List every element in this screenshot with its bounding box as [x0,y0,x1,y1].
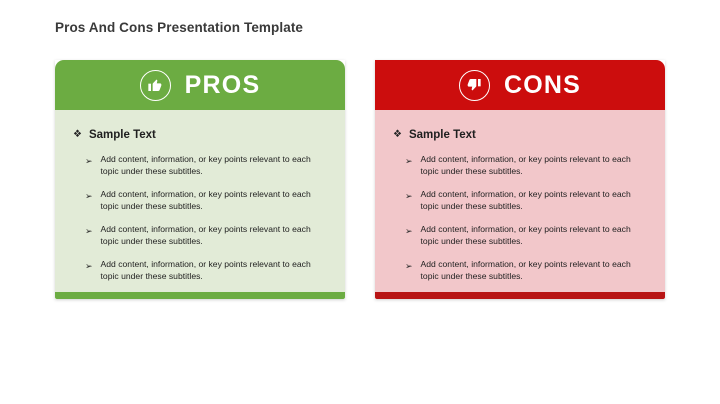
arrow-bullet-icon: ➢ [85,259,93,273]
cons-card-header: CONS [375,60,665,110]
list-item-text: Add content, information, or key points … [421,154,636,177]
cons-sample-label: Sample Text [409,128,476,142]
list-item: ➢ Add content, information, or key point… [85,259,329,282]
list-item: ➢ Add content, information, or key point… [405,189,649,212]
list-item-text: Add content, information, or key points … [101,224,316,247]
list-item-text: Add content, information, or key points … [101,189,316,212]
pros-card-header: PROS [55,60,345,110]
list-item-text: Add content, information, or key points … [421,189,636,212]
list-item: ➢ Add content, information, or key point… [85,224,329,247]
pros-bullet-list: ➢ Add content, information, or key point… [71,154,329,282]
list-item-text: Add content, information, or key points … [101,259,316,282]
diamond-bullet-icon: ❖ [73,128,82,142]
list-item: ➢ Add content, information, or key point… [405,259,649,282]
slide-canvas: Pros And Cons Presentation Template PROS… [0,0,720,404]
page-title: Pros And Cons Presentation Template [55,20,303,35]
arrow-bullet-icon: ➢ [85,154,93,168]
list-item: ➢ Add content, information, or key point… [85,189,329,212]
arrow-bullet-icon: ➢ [405,154,413,168]
cons-card-footer-bar [375,292,665,299]
list-item-text: Add content, information, or key points … [101,154,316,177]
thumbs-down-icon [459,70,490,101]
cons-sample-heading: ❖ Sample Text [393,128,649,142]
arrow-bullet-icon: ➢ [405,259,413,273]
pros-sample-label: Sample Text [89,128,156,142]
list-item-text: Add content, information, or key points … [421,224,636,247]
arrow-bullet-icon: ➢ [85,224,93,238]
pros-card-footer-bar [55,292,345,299]
arrow-bullet-icon: ➢ [405,189,413,203]
cons-card-body: ❖ Sample Text ➢ Add content, information… [375,110,665,292]
pros-card-body: ❖ Sample Text ➢ Add content, information… [55,110,345,292]
pros-cons-columns: PROS ❖ Sample Text ➢ Add content, inform… [55,60,665,299]
list-item: ➢ Add content, information, or key point… [405,224,649,247]
list-item-text: Add content, information, or key points … [421,259,636,282]
cons-card: CONS ❖ Sample Text ➢ Add content, inform… [375,60,665,299]
thumbs-up-icon [140,70,171,101]
cons-card-title: CONS [504,73,581,98]
pros-sample-heading: ❖ Sample Text [73,128,329,142]
diamond-bullet-icon: ❖ [393,128,402,142]
cons-bullet-list: ➢ Add content, information, or key point… [391,154,649,282]
arrow-bullet-icon: ➢ [85,189,93,203]
pros-card-title: PROS [185,73,261,98]
list-item: ➢ Add content, information, or key point… [85,154,329,177]
pros-card: PROS ❖ Sample Text ➢ Add content, inform… [55,60,345,299]
arrow-bullet-icon: ➢ [405,224,413,238]
list-item: ➢ Add content, information, or key point… [405,154,649,177]
